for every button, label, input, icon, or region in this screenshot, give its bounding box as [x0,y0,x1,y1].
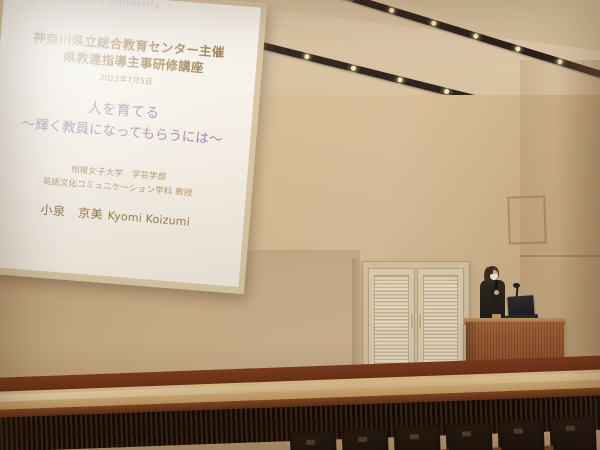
auditorium-seat [342,428,389,450]
slide-affiliation: 相模女子大学 学芸学部 英語文化コミュニケーション学科 教授 [3,159,233,204]
auditorium-seat [290,431,337,450]
door-handle [411,314,413,328]
desk-microphone-head [513,283,520,288]
screen-surface: Sagami Women's University 神奈川県立総合教育センター主… [0,0,261,287]
door-handle [419,314,421,328]
slide-title: 人を育てる 〜輝く教員になってもらうには〜 [7,92,239,151]
wall-trim-line [520,255,600,257]
university-watermark: Sagami Women's University [20,0,161,10]
projection-screen: Sagami Women's University 神奈川県立総合教育センター主… [0,0,267,294]
louver-slats [374,275,409,372]
auditorium-seat [498,420,545,450]
auditorium-seat [550,417,597,450]
speaker-name-ja: 小泉 京美 [40,203,104,222]
lecture-hall-photo: Sagami Women's University 神奈川県立総合教育センター主… [0,0,600,450]
auditorium-seat [394,425,441,450]
presentation-slide: Sagami Women's University 神奈川県立総合教育センター主… [0,0,261,287]
slide-speaker-name: 小泉 京美 Kyomi Koizumi [0,198,230,233]
speaker-hand [494,290,499,295]
auditorium-seat [446,423,493,450]
speaker-name-romaji: Kyomi Koizumi [107,209,190,229]
wall-access-panel [507,195,547,244]
louver-slats [423,275,458,372]
